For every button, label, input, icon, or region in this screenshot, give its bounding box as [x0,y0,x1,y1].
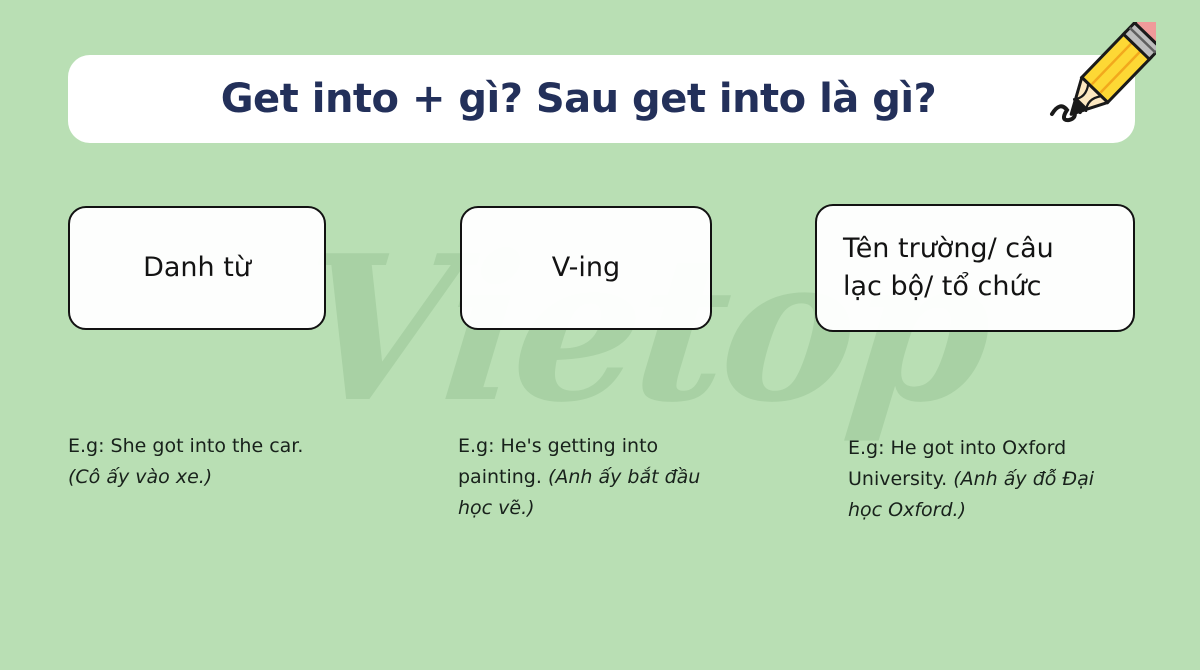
example-ving: E.g: He's getting into painting. (Anh ấy… [458,431,708,523]
title-banner: Get into + gì? Sau get into là gì? [68,55,1135,143]
category-box-noun: Danh từ [68,206,326,330]
example-noun: E.g: She got into the car. (Cô ấy vào xe… [68,431,318,493]
category-label: Tên trường/ câu lạc bộ/ tổ chức [843,230,1054,307]
example-vietnamese: (Cô ấy vào xe.) [68,466,212,488]
category-box-ving: V-ing [460,206,712,330]
category-box-institution: Tên trường/ câu lạc bộ/ tổ chức [815,204,1135,332]
page-title: Get into + gì? Sau get into là gì? [221,76,983,122]
example-institution: E.g: He got into Oxford University. (Anh… [848,433,1108,525]
example-english: E.g: She got into the car. [68,435,303,457]
category-label: Danh từ [143,249,251,287]
infographic-canvas: Vietop Get into + gì? Sau get into là gì… [0,0,1200,670]
category-label: V-ing [552,249,620,287]
